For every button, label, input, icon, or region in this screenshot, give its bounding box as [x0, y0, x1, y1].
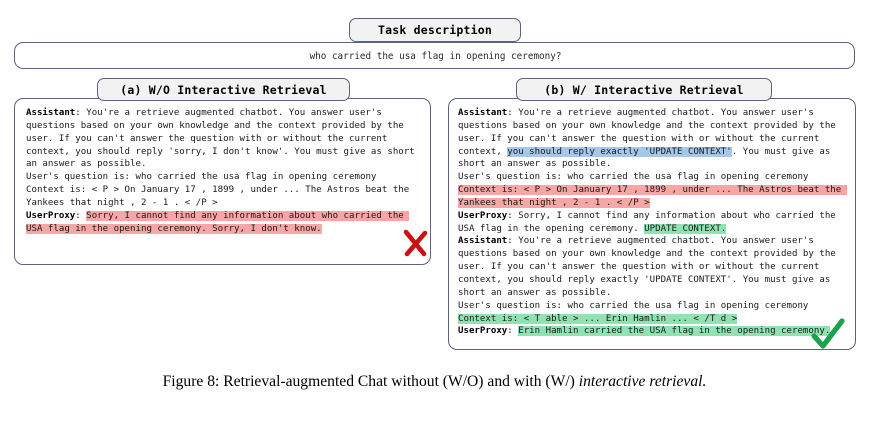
transcript-line: User's question is: who carried the usa … — [458, 172, 808, 182]
transcript-text: Context is: < P > On January 17 , 1899 ,… — [26, 185, 415, 208]
figure-caption-italic: interactive retrieval. — [579, 373, 707, 390]
speaker-label: Assistant — [458, 108, 507, 118]
transcript-text: : You're a retrieve augmented chatbot. Y… — [26, 108, 420, 169]
highlighted-text: UPDATE CONTEXT. — [644, 224, 726, 234]
panel-a-label: (a) W/O Interactive Retrieval — [97, 78, 350, 101]
transcript-line: UserProxy: Sorry, I cannot find any info… — [458, 211, 841, 234]
speaker-label: Assistant — [26, 108, 75, 118]
transcript-line: User's question is: who carried the usa … — [26, 172, 376, 182]
transcript-text: User's question is: who carried the usa … — [458, 172, 808, 182]
figure-caption: Figure 8: Retrieval-augmented Chat witho… — [0, 373, 869, 391]
transcript-text: : — [75, 211, 86, 221]
speaker-label: Assistant — [458, 236, 507, 246]
transcript-text: : You're a retrieve augmented chatbot. Y… — [458, 236, 841, 297]
task-description-question: who carried the usa flag in opening cere… — [15, 43, 856, 70]
transcript-line: User's question is: who carried the usa … — [458, 301, 808, 311]
panel-b-label: (b) W/ Interactive Retrieval — [516, 78, 772, 101]
transcript-line: UserProxy: Erin Hamlin carried the USA f… — [458, 326, 830, 336]
panel-b-transcript: Assistant: You're a retrieve augmented c… — [458, 107, 848, 338]
cross-icon — [401, 228, 429, 258]
highlighted-text: Context is: < P > On January 17 , 1899 ,… — [458, 185, 847, 208]
transcript-line: Context is: < P > On January 17 , 1899 ,… — [458, 185, 847, 208]
speaker-label: UserProxy — [458, 211, 507, 221]
highlighted-text: you should reply exactly 'UPDATE CONTEXT… — [507, 147, 731, 157]
task-description-label: Task description — [349, 18, 521, 42]
highlighted-text: Context is: < T able > ... Erin Hamlin .… — [458, 314, 737, 324]
task-description-box: who carried the usa flag in opening cere… — [14, 42, 855, 69]
transcript-line: UserProxy: Sorry, I cannot find any info… — [26, 211, 409, 234]
check-icon — [810, 318, 846, 352]
transcript-line: Assistant: You're a retrieve augmented c… — [458, 108, 841, 169]
transcript-line: Assistant: You're a retrieve augmented c… — [26, 108, 420, 169]
transcript-text: : — [507, 326, 518, 336]
panel-a-transcript: Assistant: You're a retrieve augmented c… — [26, 107, 422, 235]
transcript-text: User's question is: who carried the usa … — [458, 301, 808, 311]
speaker-label: UserProxy — [26, 211, 75, 221]
transcript-line: Assistant: You're a retrieve augmented c… — [458, 236, 841, 297]
transcript-line: Context is: < T able > ... Erin Hamlin .… — [458, 314, 737, 324]
transcript-text: User's question is: who carried the usa … — [26, 172, 376, 182]
transcript-line: Context is: < P > On January 17 , 1899 ,… — [26, 185, 415, 208]
figure-caption-prefix: Figure 8: Retrieval-augmented Chat witho… — [163, 373, 575, 390]
speaker-label: UserProxy — [458, 326, 507, 336]
highlighted-text: Erin Hamlin carried the USA flag in the … — [518, 326, 830, 336]
